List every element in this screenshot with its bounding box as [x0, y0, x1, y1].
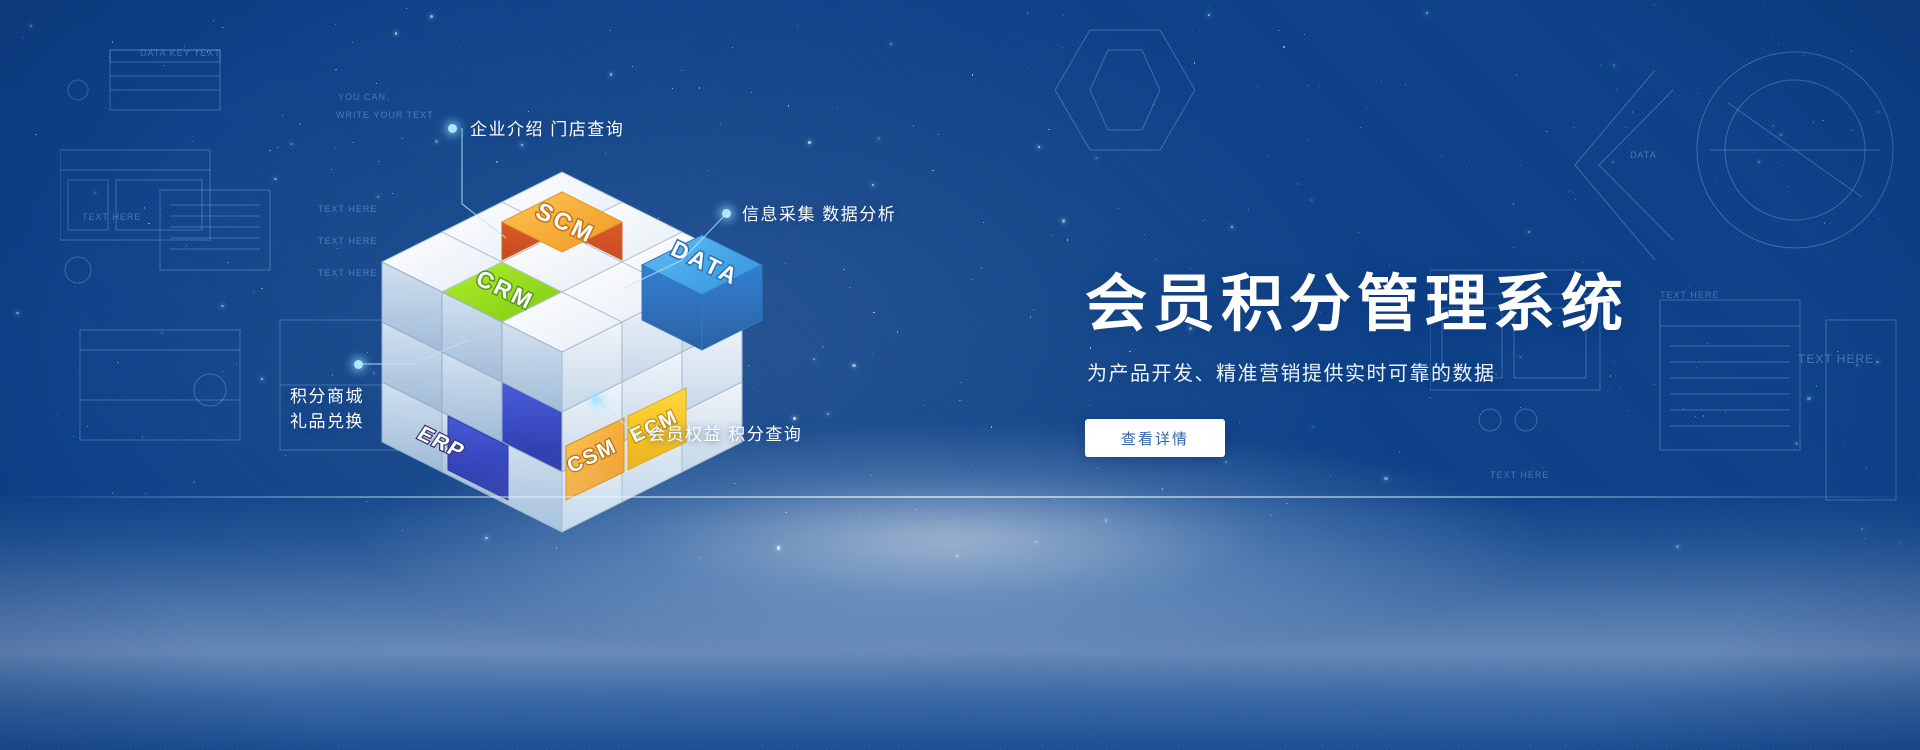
- decor-label: YOU CAN: [338, 92, 386, 102]
- hud-wireframe-left: [60, 30, 380, 330]
- callout-right: 信息采集 数据分析: [742, 203, 896, 228]
- decor-label: DATA: [1630, 150, 1657, 160]
- hero-copy: 会员积分管理系统 为产品开发、精准营销提供实时可靠的数据: [1085, 270, 1705, 386]
- hud-bracket: [1555, 70, 1675, 260]
- decor-label: DATA KEY TEXT: [140, 48, 221, 58]
- hero-banner: DATA KEY TEXT YOU CAN WRITE YOUR TEXT TE…: [0, 0, 1920, 750]
- view-details-button[interactable]: 查看详情: [1085, 419, 1225, 457]
- callout-left: 积分商城 礼品兑换: [290, 385, 364, 434]
- decor-label: TEXT HERE: [82, 212, 141, 222]
- callout-dot-bottom: [592, 396, 601, 405]
- callout-dot-top: [448, 124, 457, 133]
- floor-glow: [360, 424, 1540, 654]
- callout-dot-left: [354, 360, 363, 369]
- page-subtitle: 为产品开发、精准营销提供实时可靠的数据: [1087, 357, 1705, 386]
- decor-label: TEXT HERE: [1798, 352, 1874, 366]
- callout-dot-right: [722, 209, 731, 218]
- callout-top: 企业介绍 门店查询: [470, 118, 624, 143]
- hud-hexagon: [1030, 20, 1330, 220]
- hud-gauge: [1680, 45, 1910, 265]
- decor-label: WRITE YOUR TEXT: [336, 110, 434, 120]
- page-title: 会员积分管理系统: [1085, 270, 1705, 339]
